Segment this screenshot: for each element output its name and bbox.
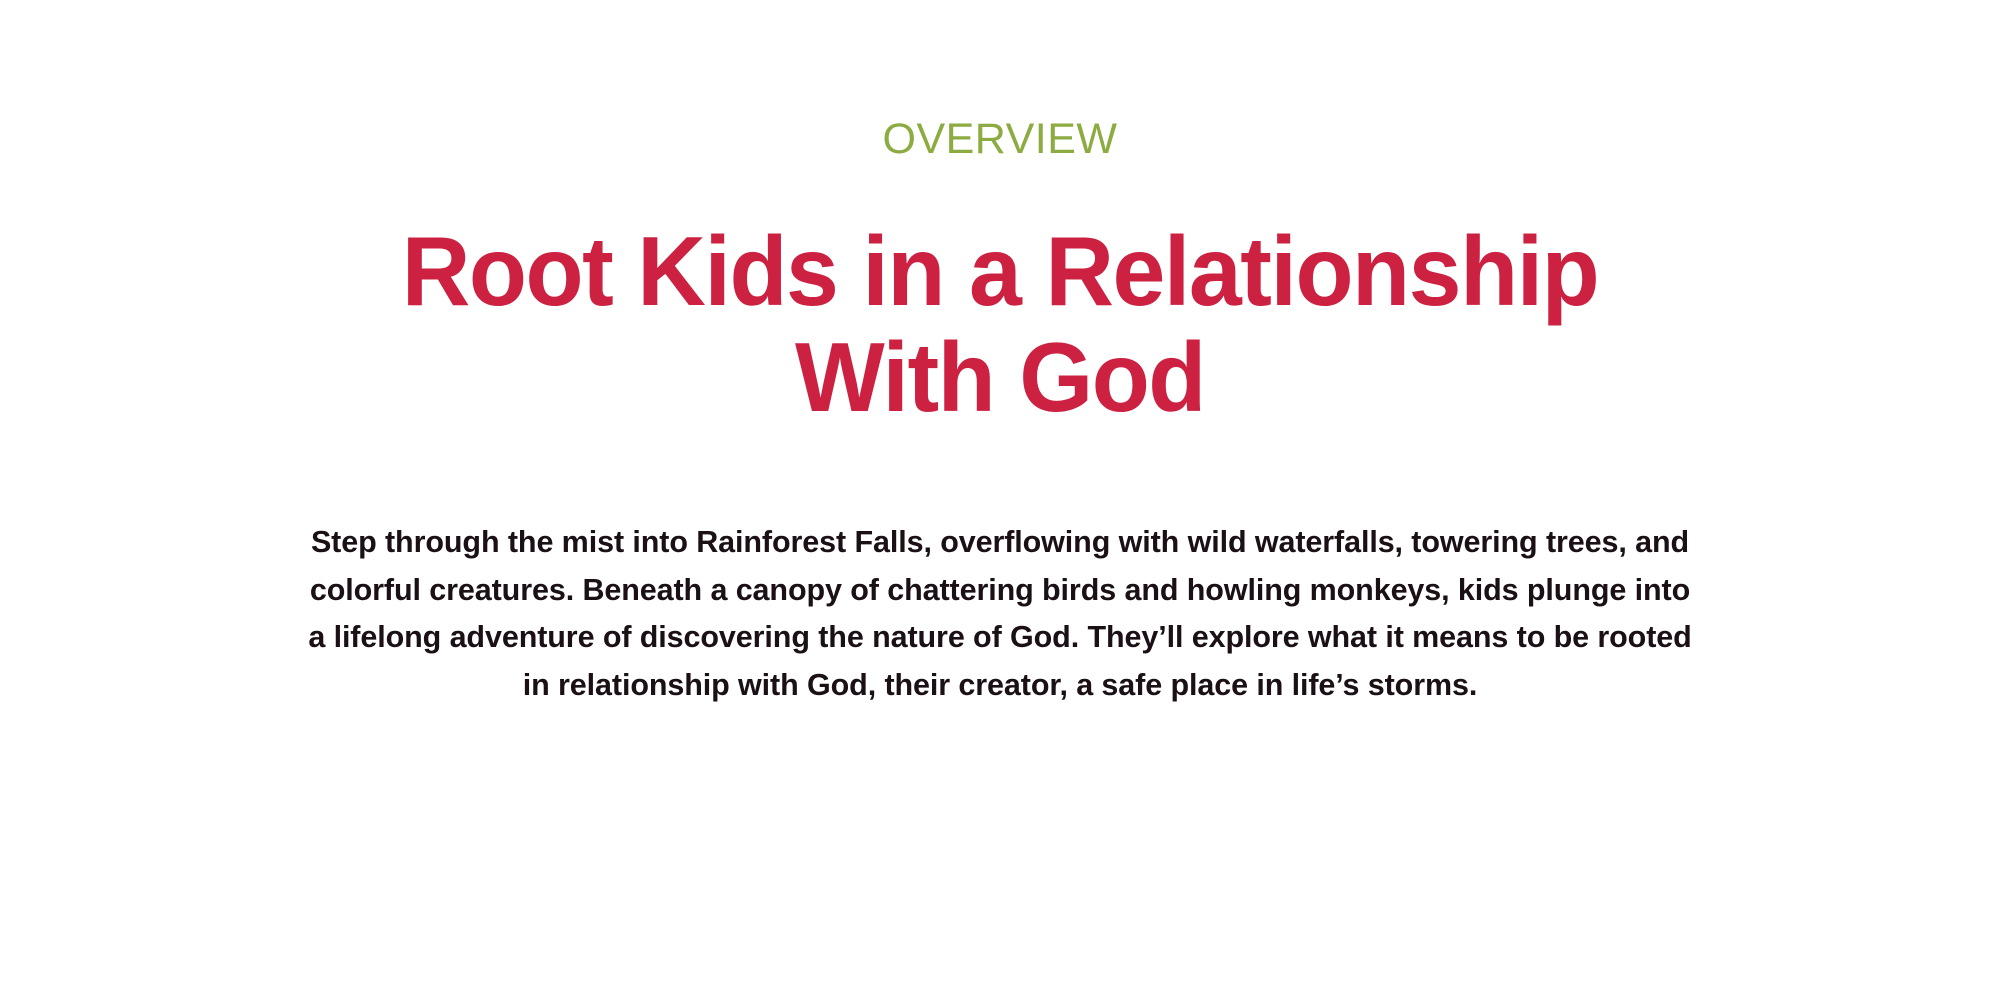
section-eyebrow-label: OVERVIEW — [883, 118, 1118, 161]
overview-content-block: OVERVIEW Root Kids in a Relationship Wit… — [110, 118, 1890, 710]
overview-description: Step through the mist into Rainforest Fa… — [305, 519, 1695, 711]
overview-page: OVERVIEW Root Kids in a Relationship Wit… — [0, 0, 2000, 1000]
page-title: Root Kids in a Relationship With God — [321, 219, 1679, 431]
